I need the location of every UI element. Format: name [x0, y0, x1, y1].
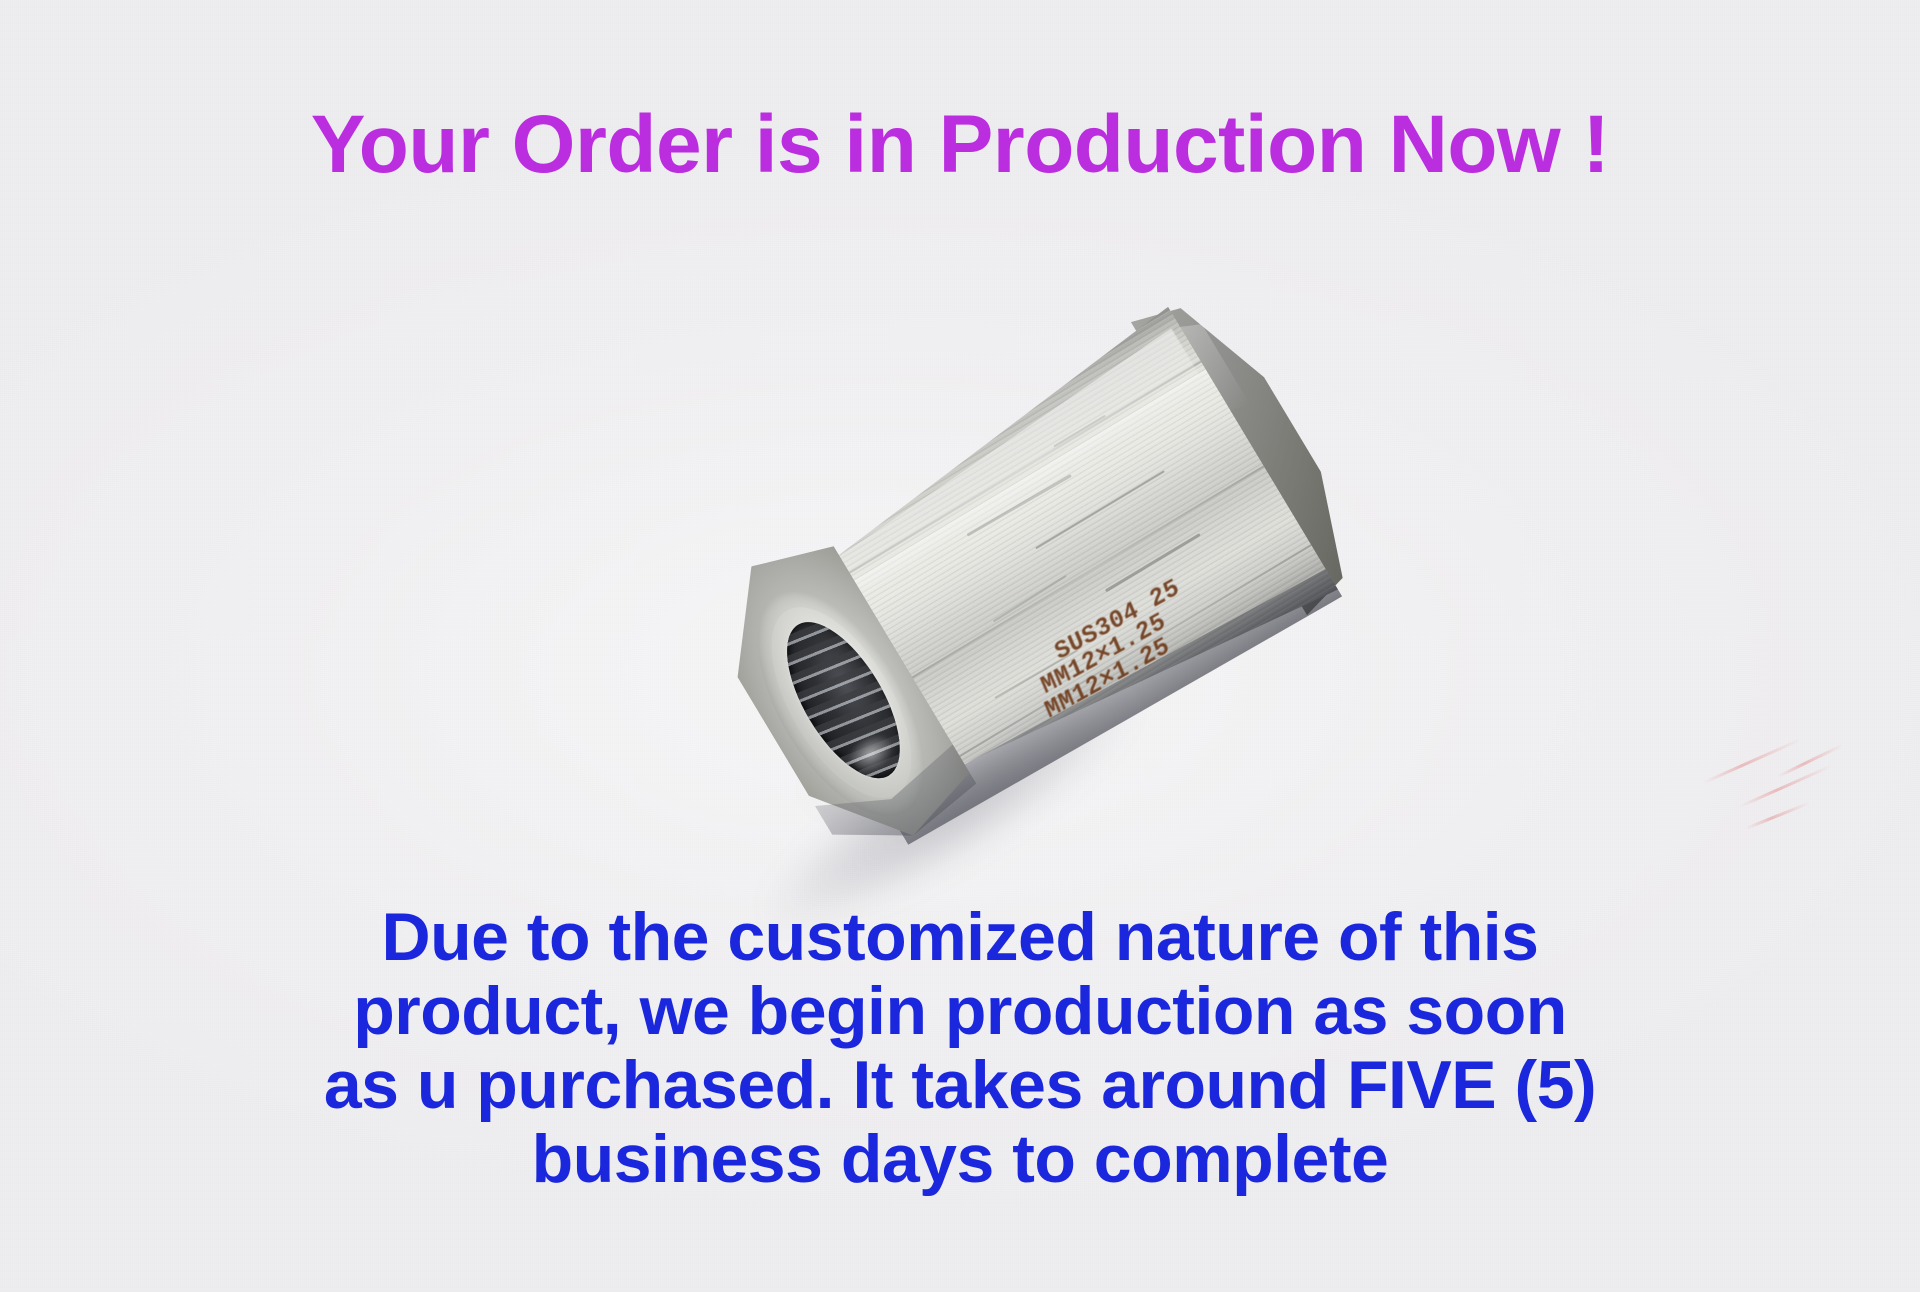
promo-graphic: Your Order is in Production Now ! SU	[0, 0, 1920, 1292]
notice-line-3: as u purchased. It takes around FIVE (5)	[0, 1048, 1920, 1122]
product-photo: SUS304 25 MM12×1.25 MM12×1.25	[620, 268, 1440, 908]
scuff-line	[1745, 802, 1809, 830]
headline-text: Your Order is in Production Now !	[0, 104, 1920, 186]
notice-text: Due to the customized nature of this pro…	[0, 900, 1920, 1196]
paper-scuff-marks	[1700, 735, 1880, 845]
scuff-line	[1703, 738, 1800, 783]
notice-line-2: product, we begin production as soon	[0, 974, 1920, 1048]
notice-line-1: Due to the customized nature of this	[0, 900, 1920, 974]
notice-line-4: business days to complete	[0, 1122, 1920, 1196]
